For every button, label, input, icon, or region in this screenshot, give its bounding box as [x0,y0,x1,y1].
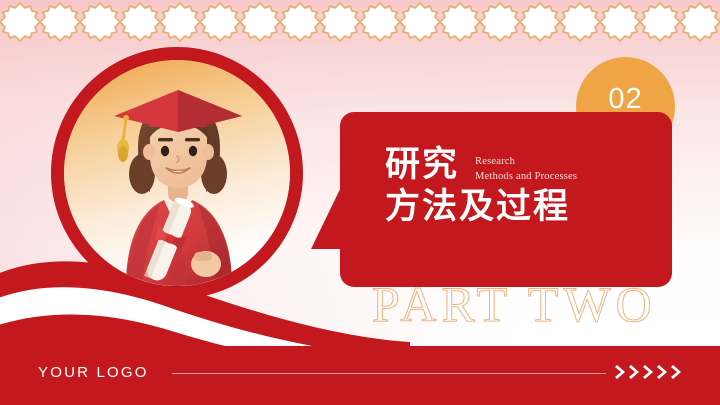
title-line-1: 研究 [385,146,459,184]
logo-text: YOUR LOGO [38,364,149,381]
quatrefoil-motif-icon [40,0,80,44]
quatrefoil-motif-icon [0,0,40,44]
graduate-student-illustration [64,60,290,286]
title-line-2: 方法及过程 [385,188,665,227]
quatrefoil-motif-icon [560,0,600,44]
presentation-slide: PART TWO [0,0,720,405]
quatrefoil-motif-icon [480,0,520,44]
quatrefoil-motif-icon [80,0,120,44]
chevron-right-icon [671,364,684,380]
title-block: 研究 Research Methods and Processes 方法及过程 [385,146,665,227]
quatrefoil-motif-icon [400,0,440,44]
chevron-right-icon [629,364,642,380]
chevron-right-icon [657,364,670,380]
quatrefoil-motif-icon [640,0,680,44]
graduate-photo-circle [51,47,303,299]
footer-divider-line [172,373,606,374]
quatrefoil-motif-icon [440,0,480,44]
speech-bubble-tail [311,183,343,249]
quatrefoil-motif-icon [240,0,280,44]
quatrefoil-motif-icon [320,0,360,44]
quatrefoil-motif-icon [360,0,400,44]
quatrefoil-motif-icon [200,0,240,44]
quatrefoil-motif-icon [160,0,200,44]
quatrefoil-motif-icon [680,0,720,44]
quatrefoil-motif-icon [520,0,560,44]
graduate-illustration-svg [64,60,290,286]
quatrefoil-motif-icon [120,0,160,44]
top-motif-band [0,0,720,44]
title-primary-row: 研究 Research Methods and Processes [385,146,665,184]
chevron-right-icon [643,364,656,380]
subtitle-english: Research Methods and Processes [475,146,577,184]
quatrefoil-motif-icon [600,0,640,44]
chevron-right-icon [615,364,628,380]
chevron-arrows-group [615,364,684,380]
subtitle-line-1: Research [475,154,577,169]
subtitle-line-2: Methods and Processes [475,169,577,184]
quatrefoil-motif-icon [280,0,320,44]
